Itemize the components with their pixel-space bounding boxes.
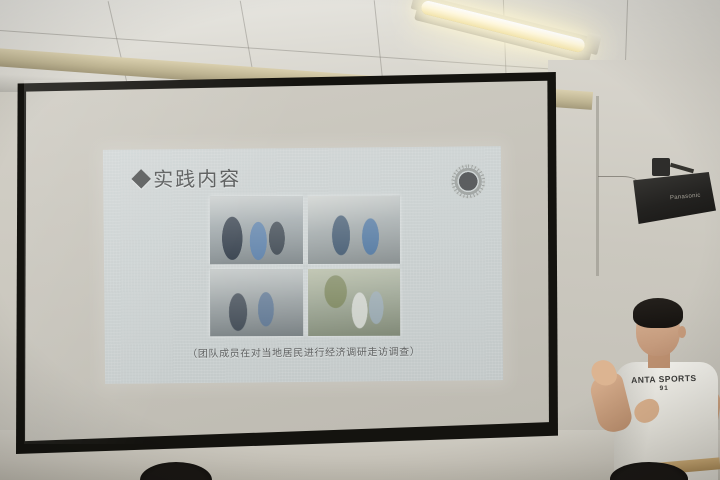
slide-photo [210,196,303,264]
projected-slide: ◆实践内容 （团队成员在对当地居民进行经济调研走访调查） [103,146,503,384]
slide-photo [210,268,303,336]
university-seal-logo [451,164,485,198]
presenter-ear [678,326,686,338]
presenter: ANTA SPORTS 91 [592,296,720,480]
classroom-scene: Panasonic ◆实践内容 （团队成员在对当地居民进行经济调研走访调查） A… [0,0,720,480]
slide-photo [308,268,401,336]
presenter-hair [633,298,683,328]
slide-title: ◆实践内容 [131,163,241,193]
slide-photo [307,196,400,264]
projector-mount [652,158,670,176]
seal-ticks [451,164,485,198]
presenter-shirt-logo: ANTA SPORTS 91 [628,373,701,394]
slide-caption: （团队成员在对当地居民进行经济调研走访调查） [105,342,503,361]
ceiling-projector: Panasonic [626,172,716,230]
slide-photo-grid [210,196,400,336]
